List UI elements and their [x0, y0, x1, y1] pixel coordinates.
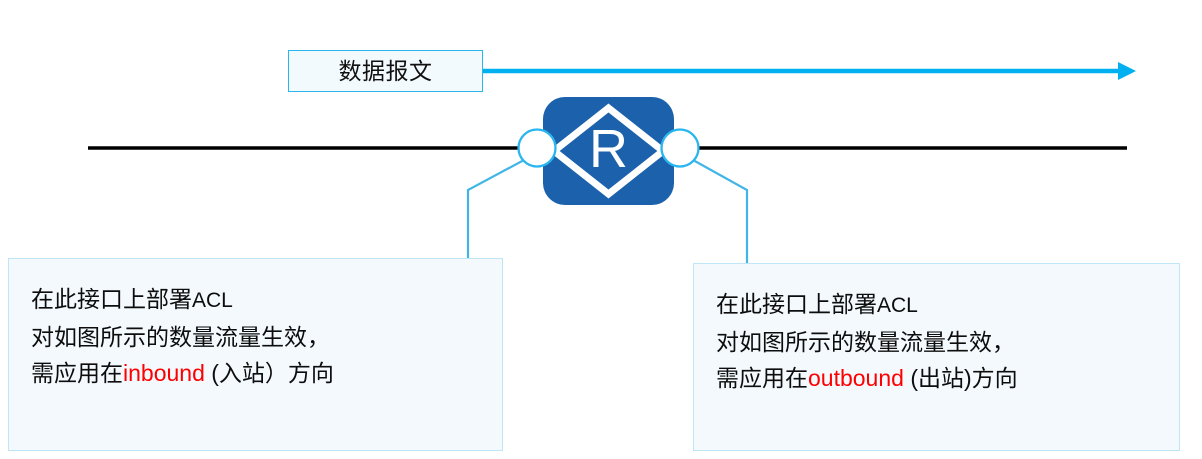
inbound-callout: 在此接口上部署ACL 对如图所示的数量流量生效， 需应用在inbound (入站…	[8, 258, 503, 451]
callout-line-1-text: 在此接口上部署	[31, 286, 192, 312]
callout-line-3-prefix: 需应用在	[31, 360, 123, 386]
flow-arrow-right-icon	[483, 62, 1136, 80]
callout-line-1-text: 在此接口上部署	[716, 291, 877, 317]
right-interface-circle	[662, 130, 699, 167]
callout-line-1: 在此接口上部署ACL	[31, 281, 502, 319]
packet-label-box: 数据报文	[288, 50, 483, 92]
callout-keyword-outbound: outbound	[808, 365, 904, 391]
callout-line-1-suffix: ACL	[192, 289, 233, 312]
callout-line-3: 需应用在outbound (出站)方向	[716, 360, 1179, 396]
callout-keyword-inbound: inbound	[123, 360, 205, 386]
callout-line-1-suffix: ACL	[877, 294, 918, 317]
callout-line-1: 在此接口上部署ACL	[716, 286, 1179, 324]
diagram-canvas: R 数据报文 在此接口上部署ACL 对如图所示的数量流量生效， 需应用在inbo…	[0, 0, 1202, 459]
leader-line-right	[693, 160, 747, 263]
callout-line-3: 需应用在inbound (入站）方向	[31, 355, 502, 391]
router-icon: R	[543, 97, 674, 205]
packet-label-text: 数据报文	[339, 60, 433, 83]
callout-line-2: 对如图所示的数量流量生效，	[716, 324, 1179, 360]
svg-text:R: R	[589, 119, 628, 179]
callout-line-3-suffix: (出站)方向	[904, 365, 1018, 391]
callout-line-2-text: 对如图所示的数量流量生效，	[716, 329, 1015, 355]
callout-line-3-prefix: 需应用在	[716, 365, 808, 391]
callout-line-2: 对如图所示的数量流量生效，	[31, 319, 502, 355]
leader-line-left	[468, 160, 524, 258]
left-interface-circle	[519, 130, 556, 167]
outbound-callout: 在此接口上部署ACL 对如图所示的数量流量生效， 需应用在outbound (出…	[693, 263, 1180, 451]
callout-line-3-suffix: (入站）方向	[205, 360, 334, 386]
callout-line-2-text: 对如图所示的数量流量生效，	[31, 324, 330, 350]
